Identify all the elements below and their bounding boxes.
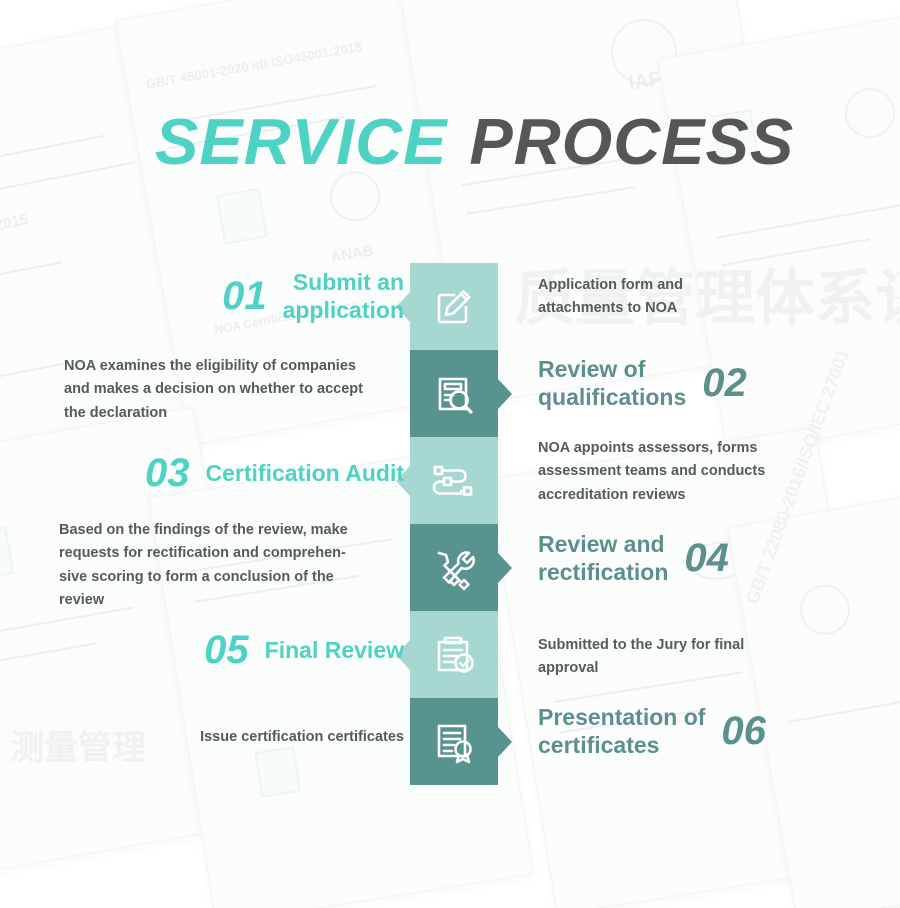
step-05-headline: 05 Final Review [64, 630, 404, 670]
step-01-description: Application form and attachments to NOA [538, 274, 838, 321]
step-04-description: Based on the findings of the review, mak… [59, 519, 404, 613]
infographic-canvas: ISO9001:2015 GB/T 45001-2020 idt ISO4500… [0, 0, 900, 908]
step-02-description-wrap: NOA examines the eligibility of companie… [64, 355, 404, 425]
step-02-number: 02 [702, 363, 747, 403]
cable-connection-icon [430, 457, 478, 505]
document-search-icon [430, 370, 478, 418]
pencil-edit-icon [430, 283, 478, 331]
process-block-04[interactable] [410, 524, 498, 611]
certificate-award-icon [430, 718, 478, 766]
arrow-notch-right [498, 727, 512, 757]
step-04-heading: Review and rectification [538, 530, 668, 587]
step-03-description-wrap: NOA appoints assessors, forms assessment… [538, 437, 838, 507]
step-04-number: 04 [684, 538, 729, 578]
page-title-primary: SERVICE [155, 105, 447, 178]
step-01-description-wrap: Application form and attachments to NOA [538, 274, 838, 321]
watermark-text: IAF [627, 67, 662, 95]
wrench-screwdriver-icon [430, 544, 478, 592]
step-02-heading: Review of qualifications [538, 355, 686, 412]
step-06-headline: Presentation of certificates 06 [538, 703, 858, 760]
step-06-description: Issue certification certificates [64, 726, 404, 749]
step-05-description: Submitted to the Jury for final approval [538, 634, 838, 681]
step-03-description: NOA appoints assessors, forms assessment… [538, 437, 838, 507]
page-title-secondary: PROCESS [469, 105, 794, 178]
step-05-description-wrap: Submitted to the Jury for final approval [538, 634, 838, 681]
step-02-headline: Review of qualifications 02 [538, 355, 858, 412]
step-06-heading: Presentation of certificates [538, 703, 705, 760]
step-03-heading: Certification Audit [206, 459, 404, 487]
arrow-notch-right [498, 379, 512, 409]
process-block-03[interactable] [410, 437, 498, 524]
step-03-number: 03 [145, 453, 190, 493]
process-block-06[interactable] [410, 698, 498, 785]
process-block-05[interactable] [410, 611, 498, 698]
step-04-description-wrap: Based on the findings of the review, mak… [59, 519, 404, 613]
step-06-number: 06 [721, 711, 766, 751]
step-05-heading: Final Review [265, 636, 404, 664]
process-block-02[interactable] [410, 350, 498, 437]
watermark-text: ANAB [329, 242, 375, 266]
step-02-description: NOA examines the eligibility of companie… [64, 355, 404, 425]
step-06-description-wrap: Issue certification certificates [64, 726, 404, 749]
step-03-headline: 03 Certification Audit [64, 453, 404, 493]
page-title: SERVICEPROCESS [155, 104, 794, 179]
watermark-text: ISO9001:2015 [0, 211, 29, 246]
step-01-number: 01 [222, 276, 267, 316]
clipboard-check-icon [430, 631, 478, 679]
step-04-headline: Review and rectification 04 [538, 530, 858, 587]
step-05-number: 05 [204, 630, 249, 670]
process-icon-rail [410, 263, 498, 785]
step-01-headline: 01 Submit an application [104, 268, 404, 325]
watermark-text: GB/T 45001-2020 idt ISO45001:2018 [145, 39, 363, 92]
arrow-notch-right [498, 553, 512, 583]
step-01-heading: Submit an application [283, 268, 404, 325]
process-block-01[interactable] [410, 263, 498, 350]
